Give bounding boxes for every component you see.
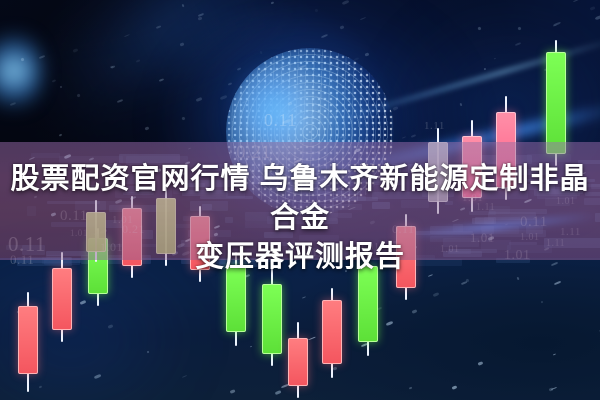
page-title: 股票配资官网行情 乌鲁木齐新能源定制非晶合金 变压器评测报告 [0,160,600,277]
banner-image: 0.110.110.111.011.011.010.110.210.211.11… [0,0,600,400]
price-value-label: 1.11 [424,120,445,132]
title-line-2: 变压器评测报告 [0,238,600,277]
title-line-1: 股票配资官网行情 乌鲁木齐新能源定制非晶合金 [0,160,600,238]
price-value-label: 0.11 [264,110,297,131]
